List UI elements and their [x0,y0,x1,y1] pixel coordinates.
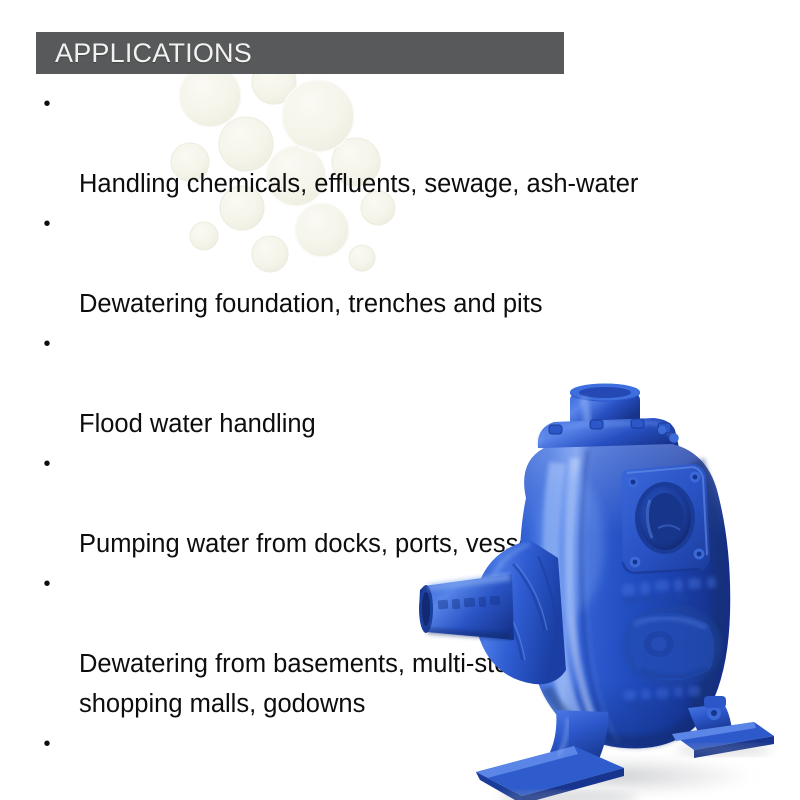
top-filling-port [570,384,640,425]
suction-inlet-flange [419,573,514,640]
bullet-icon: • [40,564,54,604]
list-item-label: Dewatering foundation, trenches and pits [79,290,543,318]
bullet-icon: • [40,724,54,764]
page-title: APPLICATIONS [36,40,252,67]
list-item-label: Handling chemicals, effluents, sewage, a… [79,170,638,198]
list-item-label: Flood water handling [79,410,316,438]
slide-page: APPLICATIONS • Handling chemicals, efflu… [0,0,800,800]
square-inspection-cover [621,464,710,574]
bullet-icon: • [40,444,54,484]
list-item: • Handling chemicals, effluents, sewage,… [34,84,734,204]
bullet-icon: • [40,84,54,124]
bullet-icon: • [40,324,54,364]
product-image-pump [418,378,800,800]
bullet-icon: • [40,204,54,244]
lower-cover-boss [622,604,722,688]
section-header-bar: APPLICATIONS [36,32,564,74]
list-item: • Dewatering foundation, trenches and pi… [34,204,734,324]
